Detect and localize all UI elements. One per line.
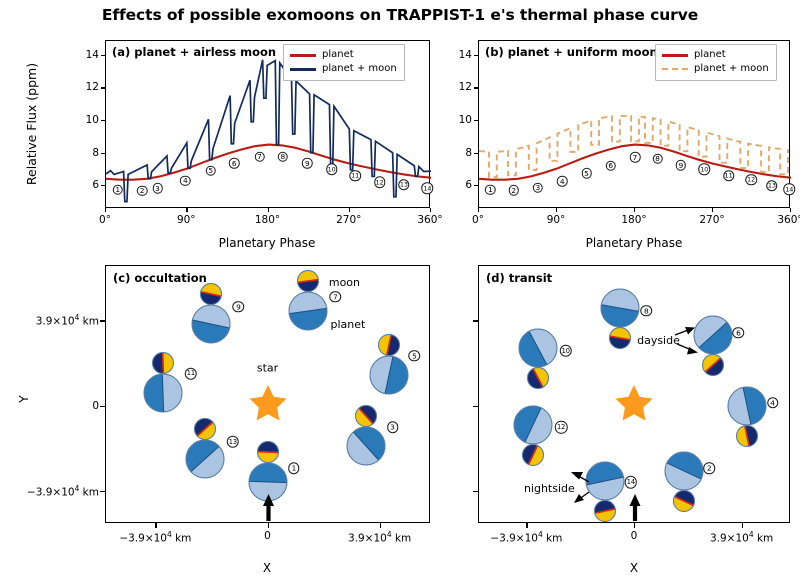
panel-d-tag: (d) transit	[486, 271, 552, 285]
x-ticklabel: 180°	[621, 214, 646, 226]
y-ticklabel: 3.9×104 km	[5, 313, 99, 328]
x-tickmark	[634, 208, 635, 212]
phase-marker-7: 7	[630, 152, 641, 163]
x-tickmark	[790, 208, 791, 212]
panel-b-tag: (b) planet + uniform moon	[485, 45, 658, 59]
phase-marker-14: 14	[784, 183, 796, 195]
x-ticklabel: 270°	[336, 214, 361, 226]
x-ticklabel: 360°	[417, 214, 442, 226]
body-marker-8: 8	[641, 305, 653, 317]
x-tickmark	[430, 208, 431, 212]
y-ticklabel: 6	[448, 179, 472, 191]
phase-marker-3: 3	[152, 183, 163, 194]
legend-row-planet-moon: planet + moon	[290, 62, 397, 76]
phase-marker-1: 1	[112, 185, 123, 196]
body-marker-9: 9	[233, 301, 245, 313]
panel-c-occultation: (c) occultation star moon planet 1357911…	[105, 265, 430, 523]
legend-label-planet: planet	[694, 50, 726, 60]
legend-label-planet-moon: planet + moon	[694, 64, 769, 74]
x-ticklabel: 0	[631, 530, 638, 542]
y-tickmark	[101, 185, 105, 186]
phase-marker-13: 13	[398, 179, 410, 191]
panel-a-legend: planet planet + moon	[283, 44, 405, 81]
star-label: star	[257, 362, 278, 375]
body-marker-10: 10	[560, 345, 573, 358]
y-tickmark	[100, 491, 105, 492]
phase-marker-4: 4	[557, 176, 568, 187]
panel-d-transit: (d) transit dayside nightside 2468101214	[478, 265, 790, 523]
legend-label-planet: planet	[322, 50, 354, 60]
legend-label-planet-moon: planet + moon	[322, 64, 397, 74]
y-tickmark	[473, 320, 478, 321]
x-ticklabel: 180°	[255, 214, 280, 226]
panel-a-xlabel: Planetary Phase	[219, 236, 316, 250]
y-tickmark	[100, 406, 105, 407]
legend-row-planet: planet	[662, 48, 769, 62]
y-tickmark	[100, 320, 105, 321]
phase-marker-5: 5	[581, 168, 592, 179]
y-tickmark	[101, 153, 105, 154]
body-marker-2: 2	[704, 462, 716, 474]
body-marker-5: 5	[409, 350, 421, 362]
panel-a-ylabel: Relative Flux (ppm)	[24, 63, 39, 185]
phase-marker-6: 6	[605, 161, 616, 172]
y-tickmark	[101, 87, 105, 88]
y-ticklabel: 14	[75, 49, 99, 61]
planet-label: planet	[330, 318, 365, 331]
phase-marker-2: 2	[508, 185, 519, 196]
x-tickmark	[712, 208, 713, 212]
phase-marker-2: 2	[137, 185, 148, 196]
phase-marker-8: 8	[652, 154, 663, 165]
body-marker-6: 6	[733, 327, 745, 339]
body-marker-14: 14	[625, 476, 638, 489]
x-ticklabel: −3.9×104 km	[490, 530, 562, 545]
x-ticklabel: 3.9×104 km	[348, 530, 411, 545]
x-ticklabel: 270°	[699, 214, 724, 226]
phase-marker-14: 14	[422, 182, 434, 194]
x-ticklabel: 360°	[777, 214, 800, 226]
phase-marker-9: 9	[676, 160, 687, 171]
y-ticklabel: 6	[75, 179, 99, 191]
y-ticklabel: 8	[448, 147, 472, 159]
y-tickmark	[101, 120, 105, 121]
y-tickmark	[474, 185, 478, 186]
x-tickmark	[186, 208, 187, 212]
phase-marker-8: 8	[278, 151, 289, 162]
figure-root: Effects of possible exomoons on TRAPPIST…	[0, 0, 800, 586]
x-tickmark	[105, 208, 106, 212]
phase-marker-11: 11	[723, 170, 735, 182]
dayside-label: dayside	[637, 334, 680, 347]
y-ticklabel: 10	[75, 114, 99, 126]
x-ticklabel: 90°	[547, 214, 566, 226]
y-tickmark	[474, 87, 478, 88]
legend-row-planet: planet	[290, 48, 397, 62]
panel-b-legend: planet planet + moon	[655, 44, 777, 81]
y-ticklabel: 10	[448, 114, 472, 126]
phase-marker-3: 3	[533, 182, 544, 193]
body-marker-12: 12	[555, 421, 568, 434]
x-tickmark	[268, 208, 269, 212]
phase-marker-13: 13	[766, 180, 778, 192]
x-tickmark	[556, 208, 557, 212]
phase-marker-7: 7	[254, 151, 265, 162]
phase-marker-9: 9	[302, 158, 313, 169]
y-ticklabel: 12	[448, 81, 472, 93]
phase-marker-12: 12	[374, 176, 386, 188]
phase-marker-6: 6	[229, 158, 240, 169]
x-ticklabel: 90°	[177, 214, 196, 226]
panel-b-xlabel: Planetary Phase	[586, 236, 683, 250]
body-marker-3: 3	[387, 422, 399, 434]
x-ticklabel: 0°	[472, 214, 484, 226]
body-marker-13: 13	[227, 436, 240, 449]
phase-marker-4: 4	[180, 176, 191, 187]
moon-label: moon	[329, 276, 360, 289]
y-ticklabel: 14	[448, 49, 472, 61]
phase-marker-10: 10	[326, 163, 338, 175]
y-tickmark	[474, 153, 478, 154]
panel-a-tag: (a) planet + airless moon	[112, 45, 276, 59]
panel-d-xlabel: X	[630, 561, 638, 575]
x-ticklabel: 3.9×104 km	[710, 530, 773, 545]
y-ticklabel: −3.9×104 km	[5, 484, 99, 499]
x-tickmark	[349, 208, 350, 212]
phase-marker-5: 5	[205, 165, 216, 176]
body-marker-11: 11	[185, 367, 198, 380]
panel-c-xlabel: X	[263, 561, 271, 575]
body-marker-1: 1	[288, 462, 300, 474]
legend-row-planet-moon: planet + moon	[662, 62, 769, 76]
y-tickmark	[473, 406, 478, 407]
phase-marker-10: 10	[699, 163, 711, 175]
x-ticklabel: 0°	[99, 214, 111, 226]
y-tickmark	[474, 120, 478, 121]
y-tickmark	[101, 55, 105, 56]
phase-marker-11: 11	[349, 170, 361, 182]
body-marker-4: 4	[767, 397, 779, 409]
phase-marker-1: 1	[485, 185, 496, 196]
panel-c-ylabel: Y	[16, 395, 31, 403]
x-tickmark	[478, 208, 479, 212]
panel-c-tag: (c) occultation	[113, 271, 207, 285]
y-ticklabel: 8	[75, 147, 99, 159]
nightside-label: nightside	[524, 482, 575, 495]
observer-arrow-c	[106, 266, 431, 524]
y-tickmark	[473, 491, 478, 492]
y-ticklabel: 12	[75, 81, 99, 93]
body-marker-7: 7	[330, 291, 342, 303]
x-ticklabel: 0	[264, 530, 271, 542]
phase-marker-12: 12	[745, 174, 757, 186]
x-ticklabel: −3.9×104 km	[119, 530, 191, 545]
figure-title: Effects of possible exomoons on TRAPPIST…	[0, 6, 800, 24]
y-tickmark	[474, 55, 478, 56]
